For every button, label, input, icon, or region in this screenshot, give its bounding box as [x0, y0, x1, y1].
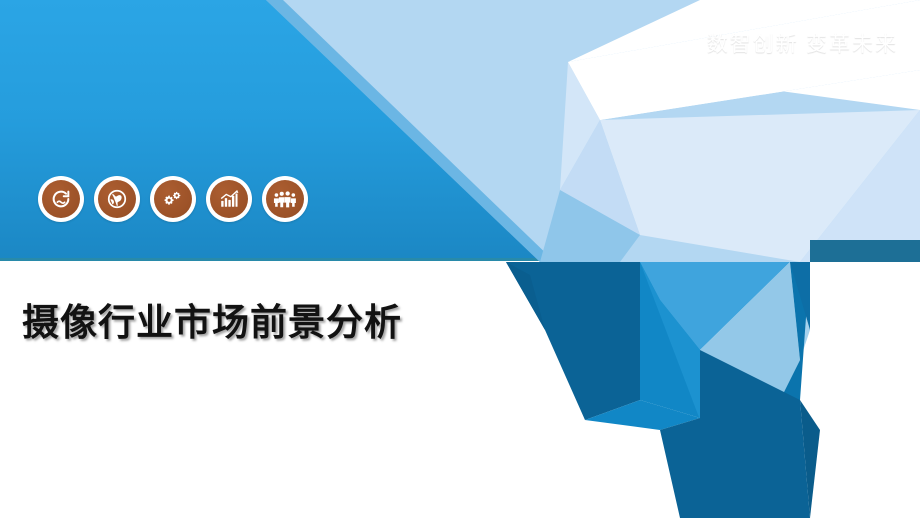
- icon-badge-bar-chart[interactable]: [206, 176, 252, 222]
- refresh-cycle-icon: [42, 180, 80, 218]
- poly-shape-teal-band: [810, 240, 920, 262]
- low-poly-background-graphic: [0, 0, 920, 518]
- page-title: 摄像行业市场前景分析: [22, 292, 402, 346]
- icon-badge-gears[interactable]: [150, 176, 196, 222]
- icon-badge-people-group[interactable]: [262, 176, 308, 222]
- slide-tagline: 数智创新 变革未来: [707, 28, 898, 58]
- icon-badge-globe[interactable]: [94, 176, 140, 222]
- feature-icon-row: [38, 176, 308, 222]
- gears-icon: [154, 180, 192, 218]
- globe-icon: [98, 180, 136, 218]
- icon-badge-refresh-cycle[interactable]: [38, 176, 84, 222]
- people-group-icon: [266, 180, 304, 218]
- bar-chart-icon: [210, 180, 248, 218]
- presentation-title-slide: 数智创新 变革未来: [0, 0, 920, 518]
